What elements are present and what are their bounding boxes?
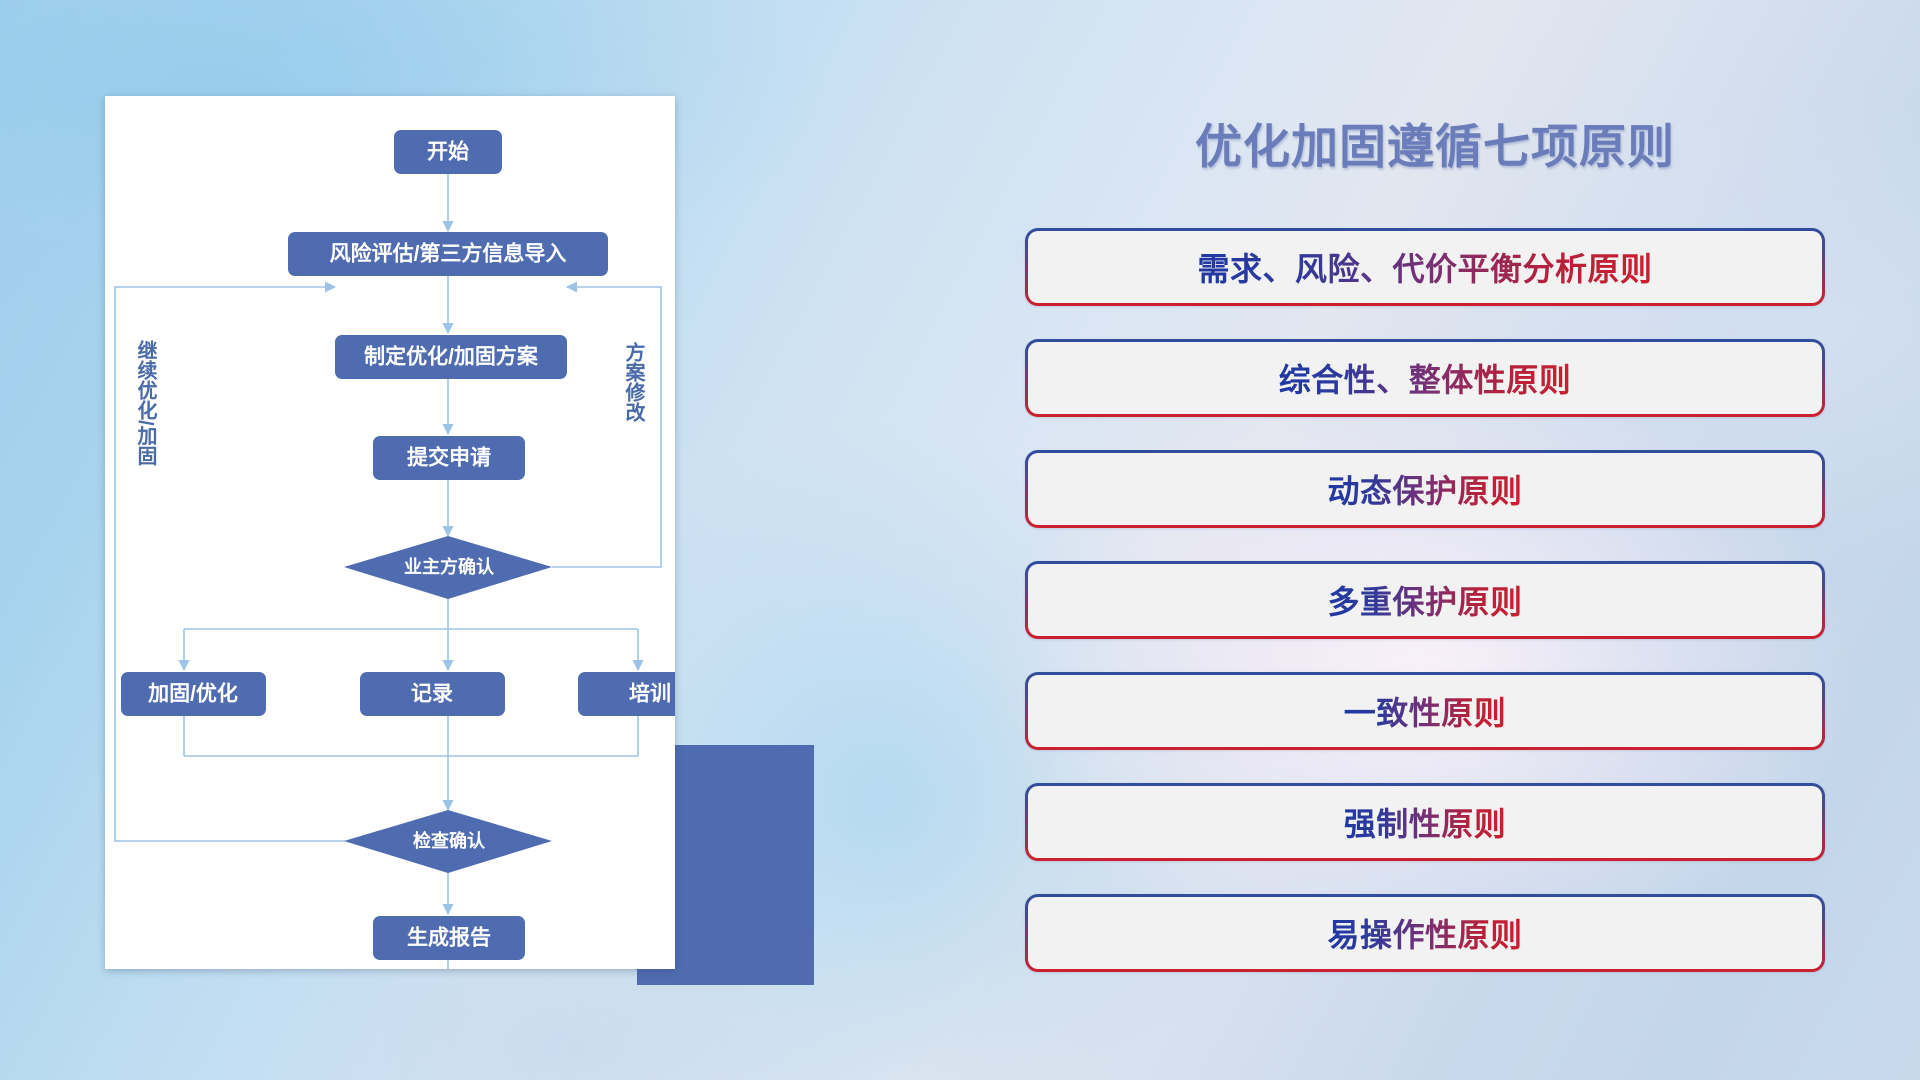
node-make-plan[interactable]: 制定优化/加固方案 (335, 335, 567, 379)
node-training[interactable]: 培训 (578, 672, 675, 716)
principle-card-5-label: 一致性原则 (1344, 688, 1507, 734)
edge-label-left-loop: 继续优化/加固 (134, 339, 158, 466)
principle-card-3-label: 动态保护原则 (1327, 466, 1522, 512)
principles-list: 需求、风险、代价平衡分析原则 综合性、整体性原则 动态保护原则 多重保护原则 一… (1025, 228, 1825, 1005)
node-risk-assess[interactable]: 风险评估/第三方信息导入 (288, 232, 608, 276)
principle-card-7-label: 易操作性原则 (1327, 910, 1522, 956)
flowchart-nodes: 开始 风险评估/第三方信息导入 制定优化/加固方案 提交申请 业主方确认 加固/ (121, 130, 675, 969)
principle-card-2-label: 综合性、整体性原则 (1279, 355, 1572, 401)
principle-card-5[interactable]: 一致性原则 (1025, 672, 1825, 750)
node-reinforce[interactable]: 加固/优化 (121, 672, 266, 716)
principle-card-7[interactable]: 易操作性原则 (1025, 894, 1825, 972)
principle-card-4[interactable]: 多重保护原则 (1025, 561, 1825, 639)
node-risk-assess-label: 风险评估/第三方信息导入 (330, 242, 567, 266)
principle-card-6-label: 强制性原则 (1344, 799, 1507, 845)
node-start-label: 开始 (427, 140, 469, 164)
principle-card-4-label: 多重保护原则 (1327, 577, 1522, 623)
node-training-label: 培训 (629, 682, 671, 706)
node-report[interactable]: 生成报告 (373, 916, 525, 960)
flowchart-diagram: 开始 风险评估/第三方信息导入 制定优化/加固方案 提交申请 业主方确认 加固/ (105, 96, 675, 969)
principles-panel: 优化加固遵循七项原则 需求、风险、代价平衡分析原则 综合性、整体性原则 动态保护… (1020, 0, 1850, 1080)
node-record-label: 记录 (411, 683, 453, 706)
node-check-confirm-label: 检查确认 (413, 830, 486, 851)
node-record[interactable]: 记录 (360, 672, 505, 716)
principle-card-2[interactable]: 综合性、整体性原则 (1025, 339, 1825, 417)
page-title: 优化加固遵循七项原则 (1020, 108, 1850, 177)
node-report-label: 生成报告 (407, 926, 491, 950)
node-owner-confirm[interactable]: 业主方确认 (344, 536, 552, 599)
principle-card-3[interactable]: 动态保护原则 (1025, 450, 1825, 528)
edge-label-right-loop: 方案修改 (622, 341, 646, 423)
principle-card-1[interactable]: 需求、风险、代价平衡分析原则 (1025, 228, 1825, 306)
principle-card-1-label: 需求、风险、代价平衡分析原则 (1197, 244, 1652, 290)
node-make-plan-label: 制定优化/加固方案 (364, 345, 539, 369)
node-owner-confirm-label: 业主方确认 (404, 556, 495, 577)
principle-card-6[interactable]: 强制性原则 (1025, 783, 1825, 861)
node-check-confirm[interactable]: 检查确认 (344, 810, 552, 873)
node-submit[interactable]: 提交申请 (373, 436, 525, 480)
node-reinforce-label: 加固/优化 (147, 682, 238, 706)
node-submit-label: 提交申请 (407, 446, 491, 470)
node-start[interactable]: 开始 (394, 130, 502, 174)
